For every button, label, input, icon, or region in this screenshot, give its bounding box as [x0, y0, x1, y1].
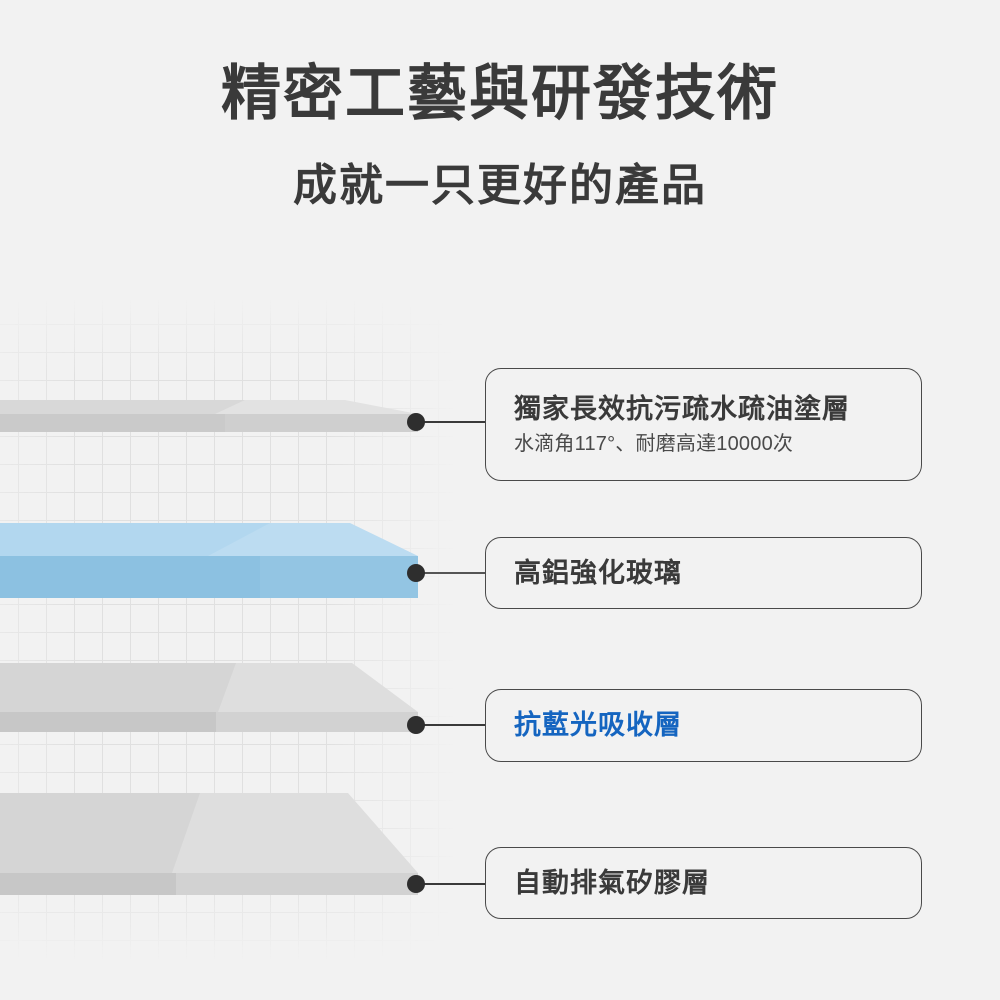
callout-3-title: 抗藍光吸收層: [514, 709, 921, 742]
callout-box-silicone[interactable]: 自動排氣矽膠層: [485, 847, 922, 919]
callout-box-bluelight[interactable]: 抗藍光吸收層: [485, 689, 922, 762]
callout-box-glass[interactable]: 高鋁強化玻璃: [485, 537, 922, 609]
callout-box-coating[interactable]: 獨家長效抗污疏水疏油塗層 水滴角117°、耐磨高達10000次: [485, 368, 922, 481]
callout-2-title: 高鋁強化玻璃: [514, 557, 921, 590]
callout-4-title: 自動排氣矽膠層: [514, 867, 921, 900]
heading-block: 精密工藝與研發技術 成就一只更好的產品: [0, 60, 1000, 210]
callout-1-title: 獨家長效抗污疏水疏油塗層: [514, 393, 921, 426]
grid-backdrop: [0, 296, 460, 964]
page-title-sub: 成就一只更好的產品: [0, 161, 1000, 210]
page-title-main: 精密工藝與研發技術: [0, 60, 1000, 127]
callout-1-subtitle: 水滴角117°、耐磨高達10000次: [514, 432, 921, 456]
